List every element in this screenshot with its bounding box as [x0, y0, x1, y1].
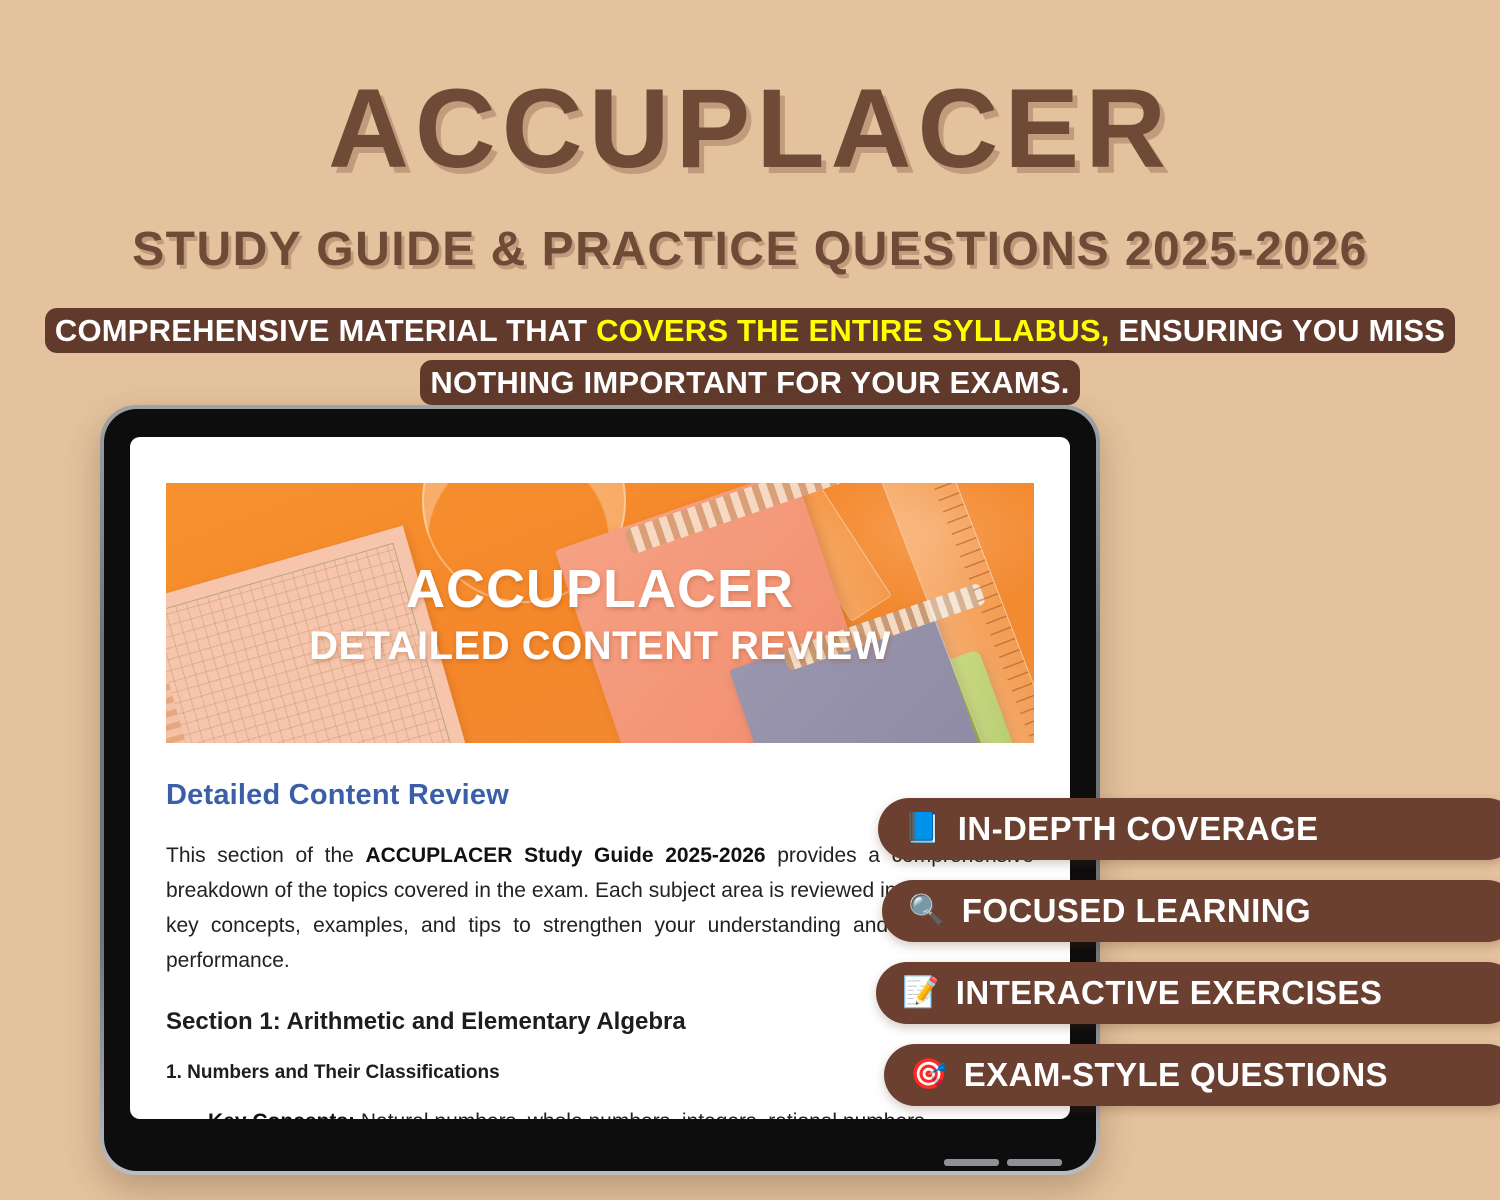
- bullet-label: Key Concepts:: [208, 1110, 355, 1119]
- document-bullet-list: Key Concepts: Natural numbers, whole num…: [166, 1104, 1034, 1119]
- page-title: ACCUPLACER: [0, 70, 1500, 188]
- list-item: Key Concepts: Natural numbers, whole num…: [208, 1104, 1034, 1119]
- paragraph-bold: ACCUPLACER Study Guide 2025-2026: [365, 844, 765, 867]
- speaker-slot: [1007, 1159, 1062, 1166]
- poster-canvas: ACCUPLACER STUDY GUIDE & PRACTICE QUESTI…: [0, 0, 1500, 1200]
- document-banner-image: ACCUPLACER DETAILED CONTENT REVIEW: [166, 483, 1034, 743]
- blue-book-icon: 📘: [904, 814, 942, 844]
- paragraph-lead: This section of the: [166, 844, 365, 867]
- feature-pill-exam-style-questions[interactable]: 🎯 EXAM-STYLE QUESTIONS: [884, 1044, 1500, 1106]
- speaker-slot: [944, 1159, 999, 1166]
- tagline-banner: COMPREHENSIVE MATERIAL THAT COVERS THE E…: [10, 308, 1490, 412]
- tagline-highlight: COVERS THE ENTIRE SYLLABUS,: [596, 313, 1110, 348]
- feature-pill-focused-learning[interactable]: 🔍 FOCUSED LEARNING: [882, 880, 1500, 942]
- memo-pencil-icon: 📝: [902, 978, 940, 1008]
- bullet-text: Natural numbers, whole numbers, integers…: [355, 1110, 930, 1119]
- tablet-speaker-grille: [944, 1159, 1062, 1166]
- page-subtitle: STUDY GUIDE & PRACTICE QUESTIONS 2025-20…: [0, 222, 1500, 277]
- magnifier-icon: 🔍: [908, 896, 946, 926]
- graph-notebook: [166, 525, 486, 743]
- feature-pill-label: EXAM-STYLE QUESTIONS: [964, 1056, 1388, 1094]
- feature-pill-label: IN-DEPTH COVERAGE: [958, 810, 1319, 848]
- feature-pill-in-depth-coverage[interactable]: 📘 IN-DEPTH COVERAGE: [878, 798, 1500, 860]
- tagline-part-1: COMPREHENSIVE MATERIAL THAT: [55, 313, 596, 348]
- tagline-text: COMPREHENSIVE MATERIAL THAT COVERS THE E…: [45, 308, 1455, 405]
- feature-pill-interactive-exercises[interactable]: 📝 INTERACTIVE EXERCISES: [876, 962, 1500, 1024]
- feature-pill-label: INTERACTIVE EXERCISES: [956, 974, 1382, 1012]
- feature-pill-label: FOCUSED LEARNING: [962, 892, 1311, 930]
- target-dart-icon: 🎯: [910, 1060, 948, 1090]
